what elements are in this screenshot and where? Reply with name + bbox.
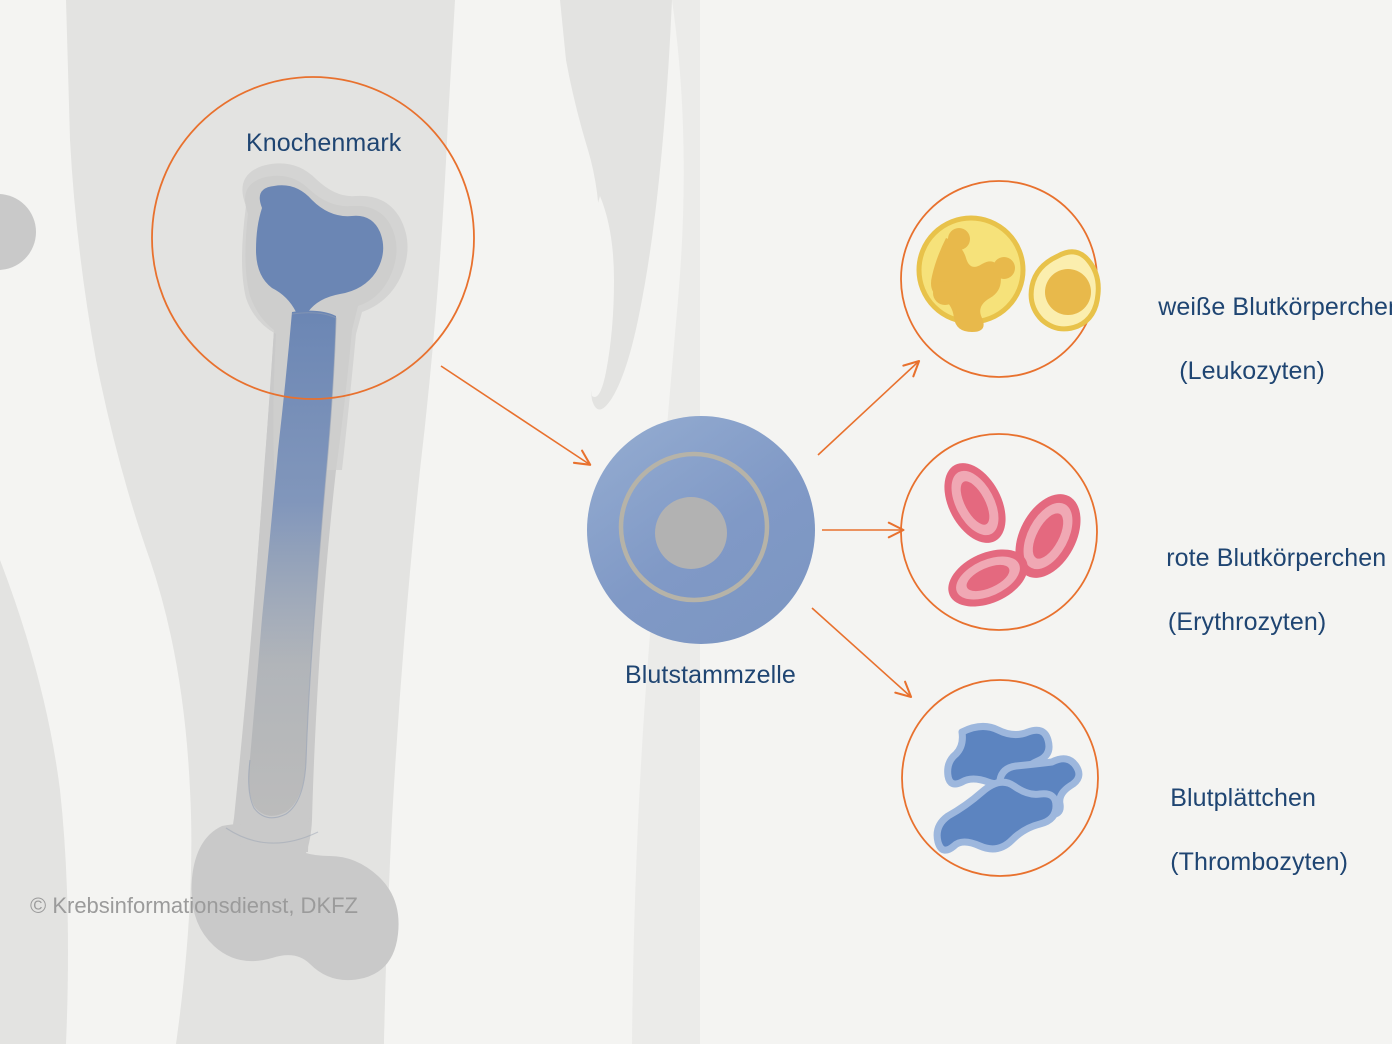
granulocyte-lobe-b bbox=[993, 257, 1015, 279]
label-red-blood-cells-line2: (Erythrozyten) bbox=[1168, 608, 1326, 636]
label-platelets-line1: Blutplättchen bbox=[1170, 784, 1316, 812]
label-white-blood-cells: weiße Blutkörperchen (Leukozyten) bbox=[1130, 259, 1346, 419]
copyright-notice: © Krebsinformationsdienst, DKFZ bbox=[30, 893, 358, 919]
label-platelets: Blutplättchen (Thrombozyten) bbox=[1142, 750, 1304, 910]
diagram-canvas: Knochenmark Blutstammzelle weiße Blutkör… bbox=[0, 0, 1392, 1044]
granulocyte-lobe-c bbox=[933, 281, 957, 305]
granulocyte-lobe-a bbox=[948, 228, 970, 250]
label-red-blood-cells-line1: rote Blutkörperchen bbox=[1166, 544, 1386, 572]
blood-stem-cell bbox=[587, 416, 815, 644]
label-blood-stem-cell: Blutstammzelle bbox=[625, 659, 796, 691]
label-bone-marrow: Knochenmark bbox=[246, 127, 401, 159]
lymphocyte-nucleus bbox=[1045, 269, 1091, 315]
label-white-blood-cells-line1: weiße Blutkörperchen bbox=[1158, 293, 1392, 321]
label-white-blood-cells-line2: (Leukozyten) bbox=[1179, 357, 1325, 385]
label-platelets-line2: (Thrombozyten) bbox=[1170, 848, 1348, 876]
stem-cell-nucleus bbox=[655, 497, 727, 569]
label-red-blood-cells: rote Blutkörperchen (Erythrozyten) bbox=[1138, 510, 1328, 670]
